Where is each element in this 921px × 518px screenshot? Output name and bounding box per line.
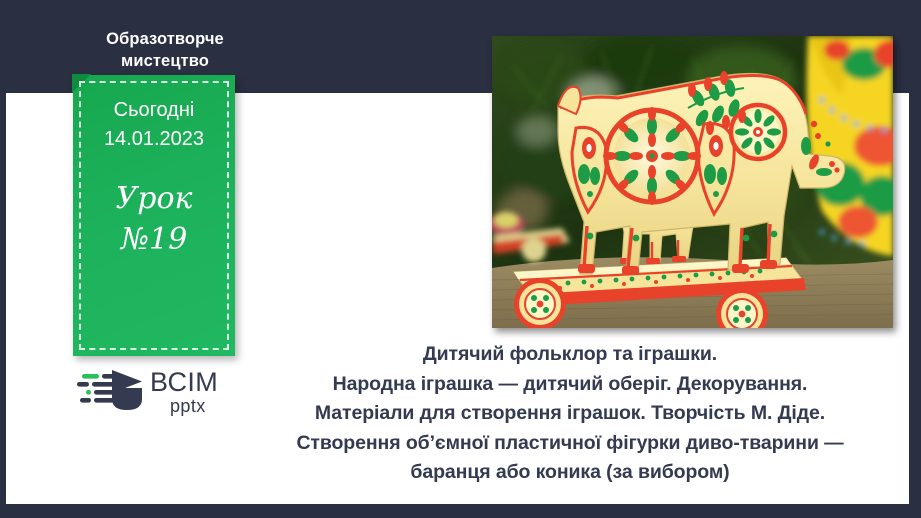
lesson-date-card: Сьогодні 14.01.2023 Урок №19 bbox=[73, 75, 235, 356]
lesson-description-line-5: баранця або коника (за вибором) bbox=[244, 458, 896, 488]
subject-title: Образотворче мистецтво bbox=[40, 28, 290, 72]
slide-root: Образотворче мистецтво Сьогодні 14.01.20… bbox=[0, 0, 921, 518]
logo-brand: ВСІМ bbox=[150, 369, 218, 396]
lesson-description-line-4: Створення об’ємної пластичної фігурки ди… bbox=[244, 429, 896, 459]
lesson-card-content: Сьогодні 14.01.2023 Урок №19 bbox=[73, 75, 235, 356]
today-date: 14.01.2023 bbox=[104, 125, 204, 154]
logo-suffix: pptx bbox=[170, 397, 218, 415]
graduation-cap-icon bbox=[76, 366, 146, 418]
bcim-pptx-logo[interactable]: ВСІМ pptx bbox=[76, 364, 256, 420]
today-label: Сьогодні bbox=[114, 96, 195, 125]
logo-wordmark: ВСІМ pptx bbox=[150, 369, 218, 415]
photo-illustration bbox=[492, 36, 893, 328]
lesson-description-line-2: Народна іграшка — дитячий оберіг. Декору… bbox=[244, 370, 896, 400]
lesson-description-line-3: Матеріали для створення іграшок. Творчіс… bbox=[244, 399, 896, 429]
lesson-word: Урок bbox=[116, 178, 193, 219]
lesson-description-line-1: Дитячий фольклор та іграшки. bbox=[244, 340, 896, 370]
wooden-painted-horse-toy-photo bbox=[492, 36, 893, 328]
lesson-number: №19 bbox=[121, 219, 188, 260]
lesson-description: Дитячий фольклор та іграшки. Народна ігр… bbox=[244, 340, 896, 488]
